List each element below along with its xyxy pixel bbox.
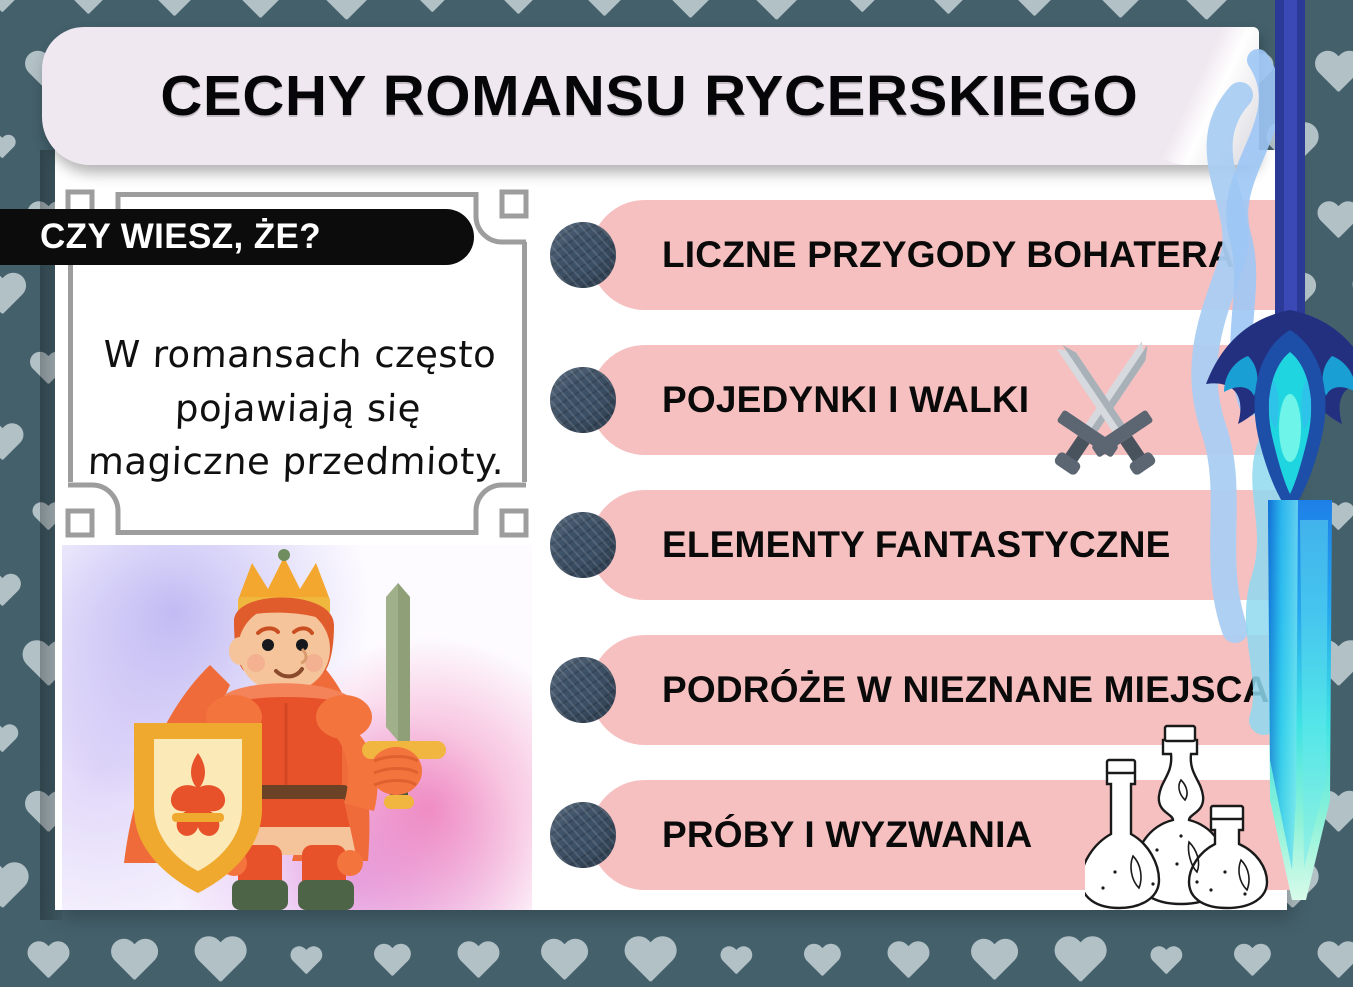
fact-box-body: W romansach często pojawiają się magiczn… xyxy=(78,278,518,538)
fact-box-heading: CZY WIESZ, ŻE? xyxy=(40,217,321,257)
fact-box-heading-banner: CZY WIESZ, ŻE? xyxy=(0,209,474,265)
frame-line-top xyxy=(118,192,478,197)
list-item-label: PODRÓŻE W NIEZNANE MIEJSCA xyxy=(662,669,1270,711)
bullet-icon xyxy=(550,222,616,288)
bullet-icon xyxy=(550,512,616,578)
bullet-icon xyxy=(550,367,616,433)
bullet-icon xyxy=(550,657,616,723)
list-item-label: LICZNE PRZYGODY BOHATERA xyxy=(662,234,1235,276)
corner-ornament-top-right xyxy=(470,186,532,248)
fact-box-text: W romansach często pojawiają się magiczn… xyxy=(75,328,521,489)
list-item[interactable]: ELEMENTY FANTASTYCZNE xyxy=(590,490,1290,600)
list-item[interactable]: LICZNE PRZYGODY BOHATERA xyxy=(590,200,1290,310)
list-item-label: ELEMENTY FANTASTYCZNE xyxy=(662,524,1171,566)
crossed-swords-icon xyxy=(1020,328,1190,488)
bullet-icon xyxy=(550,802,616,868)
list-item-label: POJEDYNKI I WALKI xyxy=(662,379,1029,421)
page-title: CECHY ROMANSU RYCERSKIEGO xyxy=(161,63,1139,129)
frame-line-right xyxy=(522,242,527,482)
list-item-label: PRÓBY I WYZWANIA xyxy=(662,814,1032,856)
frame-line-left xyxy=(68,242,73,482)
title-banner: CECHY ROMANSU RYCERSKIEGO xyxy=(42,27,1257,165)
knight-illustration xyxy=(62,545,532,910)
potion-bottles-icon xyxy=(1085,722,1275,912)
